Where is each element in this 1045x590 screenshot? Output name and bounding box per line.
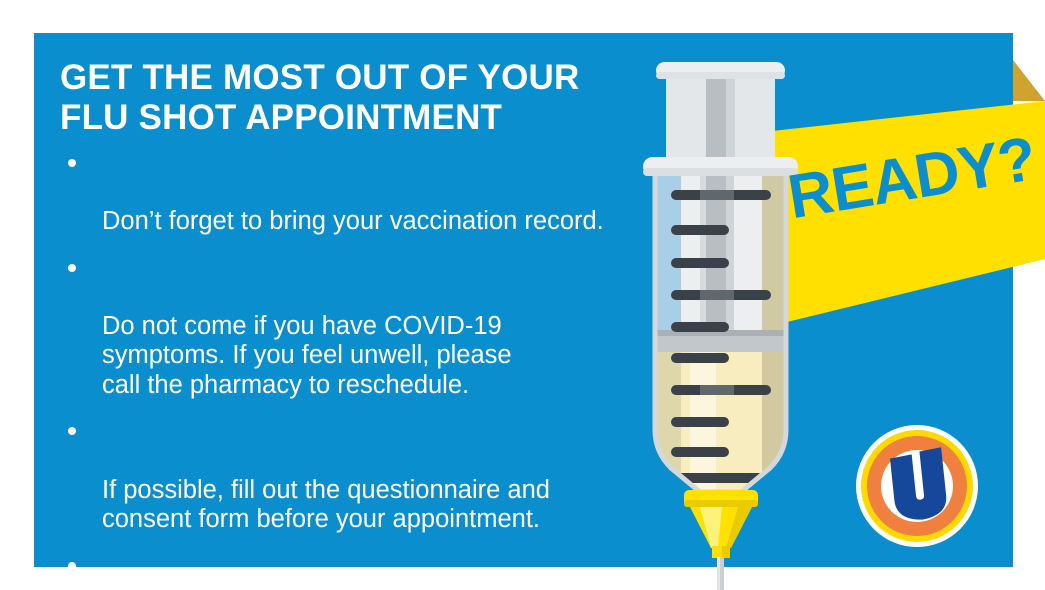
list-item: If possible, fill out the questionnaire … (60, 416, 660, 534)
list-item-text: Do not come if you have COVID-19 symptom… (102, 312, 512, 399)
list-item-text: Don’t forget to bring your vaccination r… (102, 207, 604, 235)
content-column: GET THE MOST OUT OF YOUR FLU SHOT APPOIN… (60, 58, 660, 590)
bullet-dot-icon (68, 427, 76, 435)
bullet-dot-icon (68, 159, 76, 167)
logo-rings (855, 424, 979, 548)
list-item: Do not come if you have COVID-19 symptom… (60, 253, 660, 401)
uniprix-u-logo (855, 424, 979, 548)
bullet-dot-icon (68, 264, 76, 272)
tips-list: Don’t forget to bring your vaccination r… (60, 148, 660, 590)
ribbon-fold-triangle (1013, 60, 1045, 101)
list-item: Don’t forget to put on your face coverin… (60, 551, 660, 590)
list-item-text: If possible, fill out the questionnaire … (102, 476, 550, 534)
page-title: GET THE MOST OUT OF YOUR FLU SHOT APPOIN… (60, 58, 660, 138)
list-item: Don’t forget to bring your vaccination r… (60, 148, 660, 237)
bullet-dot-icon (68, 562, 76, 570)
poster-canvas: GET THE MOST OUT OF YOUR FLU SHOT APPOIN… (0, 0, 1045, 590)
